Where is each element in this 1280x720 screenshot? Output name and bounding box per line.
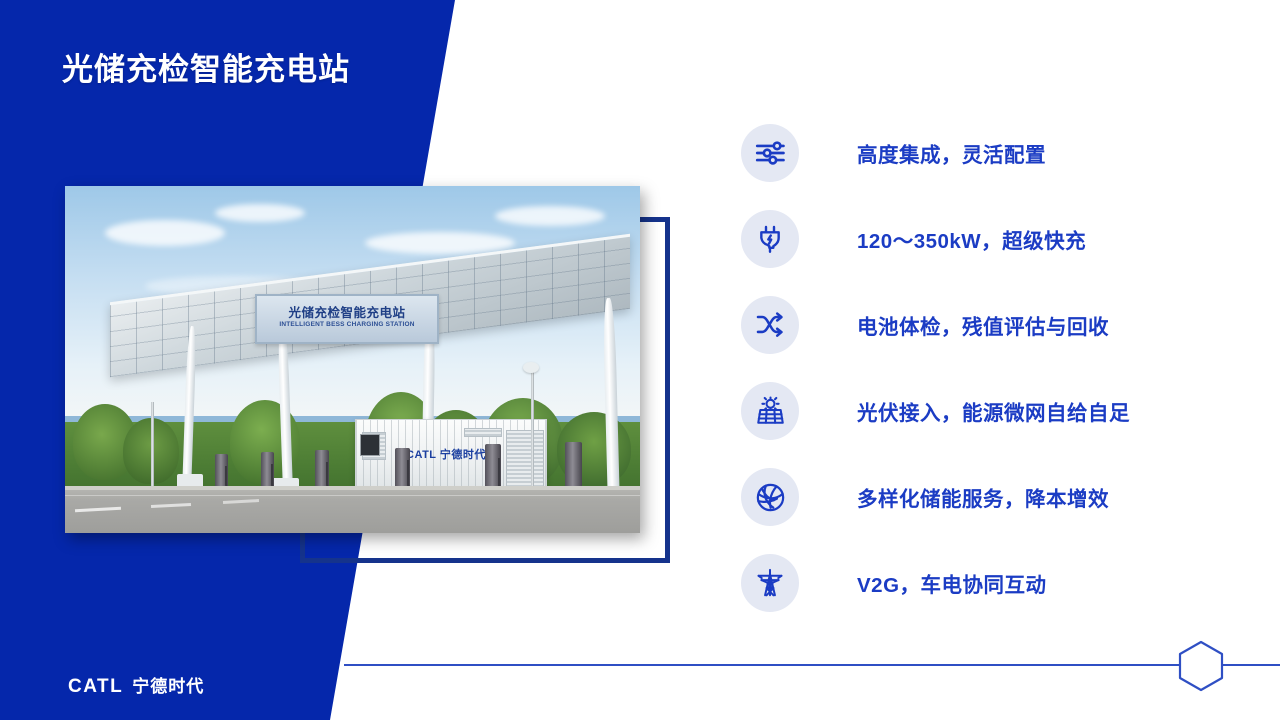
feature-item[interactable]: 光伏接入，能源微网自给自足 <box>741 382 1261 440</box>
feature-label: 光伏接入，能源微网自给自足 <box>857 396 1130 426</box>
solar-panel-icon <box>741 382 799 440</box>
photo-street-lamp <box>531 366 534 496</box>
catl-logo: CATL 宁德时代 <box>68 672 204 698</box>
slide-root: 光储充检智能充电站 <box>0 0 1280 720</box>
feature-item[interactable]: 电池体检，残值评估与回收 <box>741 296 1261 354</box>
sign-chinese-text: 光储充检智能充电站 <box>257 302 437 321</box>
feature-label: 多样化储能服务，降本增效 <box>857 482 1109 512</box>
feature-item[interactable]: 多样化储能服务，降本增效 <box>741 468 1261 526</box>
page-title: 光储充检智能充电站 <box>62 44 350 89</box>
station-photo: 光储充检智能充电站 INTELLIGENT BESS CHARGING STAT… <box>65 186 640 533</box>
feature-list: 高度集成，灵活配置 120～350kW，超级快充 <box>741 124 1261 640</box>
feature-item[interactable]: 120～350kW，超级快充 <box>741 210 1261 268</box>
photo-station-sign: 光储充检智能充电站 INTELLIGENT BESS CHARGING STAT… <box>255 294 439 344</box>
photo-asphalt-foreground <box>65 486 640 533</box>
feature-item[interactable]: 高度集成，灵活配置 <box>741 124 1261 182</box>
sliders-icon <box>741 124 799 182</box>
shuffle-icon <box>741 296 799 354</box>
globe-network-icon <box>741 468 799 526</box>
logo-en-text: CATL <box>68 676 123 698</box>
feature-label: 120～350kW，超级快充 <box>857 224 1086 254</box>
plug-bolt-icon <box>741 210 799 268</box>
feature-label: 高度集成，灵活配置 <box>857 138 1046 168</box>
hexagon-accent-icon <box>1177 640 1225 692</box>
bottom-divider-line <box>344 664 1280 666</box>
power-tower-icon <box>741 554 799 612</box>
feature-item[interactable]: V2G，车电协同互动 <box>741 554 1261 612</box>
feature-label: 电池体检，残值评估与回收 <box>857 310 1109 340</box>
sign-english-text: INTELLIGENT BESS CHARGING STATION <box>257 321 437 328</box>
photo-bess-container: CATL 宁德时代 <box>355 419 547 493</box>
feature-label: V2G，车电协同互动 <box>857 568 1047 598</box>
logo-cn-text: 宁德时代 <box>132 672 204 697</box>
